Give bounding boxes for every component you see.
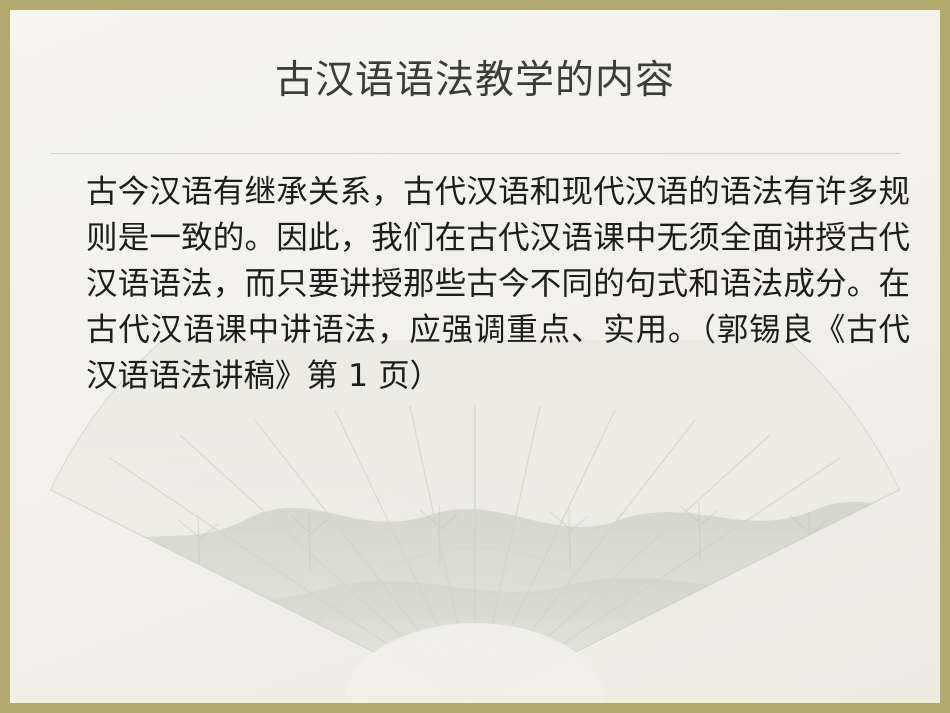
body-bullet-item: 古今汉语有继承关系，古代汉语和现代汉语的语法有许多规则是一致的。因此，我们在古代…	[50, 170, 910, 400]
bullet-icon	[50, 170, 86, 188]
slide-canvas: 古汉语语法教学的内容 古今汉语有继承关系，古代汉语和现代汉语的语法有许多规则是一…	[10, 10, 940, 703]
body-paragraph: 古今汉语有继承关系，古代汉语和现代汉语的语法有许多规则是一致的。因此，我们在古代…	[86, 170, 910, 400]
slide: 古汉语语法教学的内容 古今汉语有继承关系，古代汉语和现代汉语的语法有许多规则是一…	[0, 0, 950, 713]
slide-border-right	[940, 0, 950, 713]
title-divider	[50, 153, 900, 154]
slide-border-top	[0, 0, 950, 10]
slide-title: 古汉语语法教学的内容	[10, 58, 940, 105]
slide-border-left	[0, 0, 10, 713]
slide-border-bottom	[0, 703, 950, 713]
